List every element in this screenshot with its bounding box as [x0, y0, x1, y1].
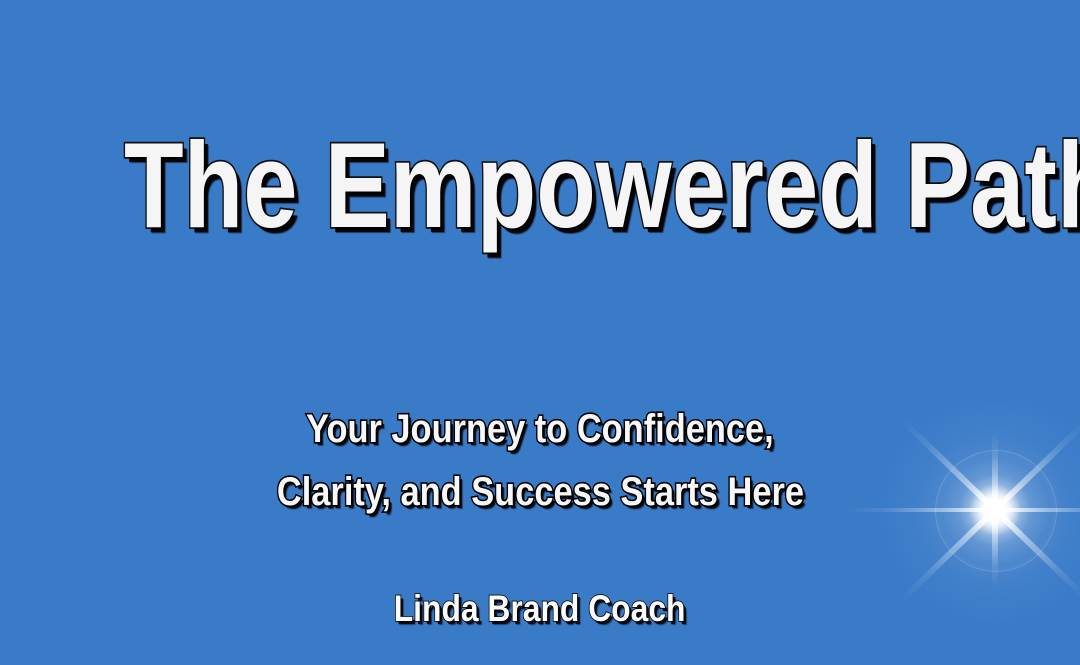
author-name: Linda Brand Coach	[394, 590, 686, 627]
slide-subtitle-container: Your Journey to Confidence, Clarity, and…	[0, 402, 1080, 528]
title-slide: The Empowered Path Your Journey to Confi…	[0, 0, 1080, 665]
page-title: The Empowered Path	[124, 124, 1080, 246]
slide-title-container: The Empowered Path	[0, 124, 1080, 246]
subtitle-line-1: Your Journey to Confidence,	[0, 402, 1080, 465]
subtitle-line-1-text: Your Journey to Confidence,	[306, 402, 774, 457]
subtitle-line-2: Clarity, and Success Starts Here	[0, 465, 1080, 528]
slide-author-container: Linda Brand Coach	[0, 590, 1080, 627]
subtitle-line-2-text: Clarity, and Success Starts Here	[276, 465, 803, 520]
slide-content: The Empowered Path Your Journey to Confi…	[0, 0, 1080, 665]
